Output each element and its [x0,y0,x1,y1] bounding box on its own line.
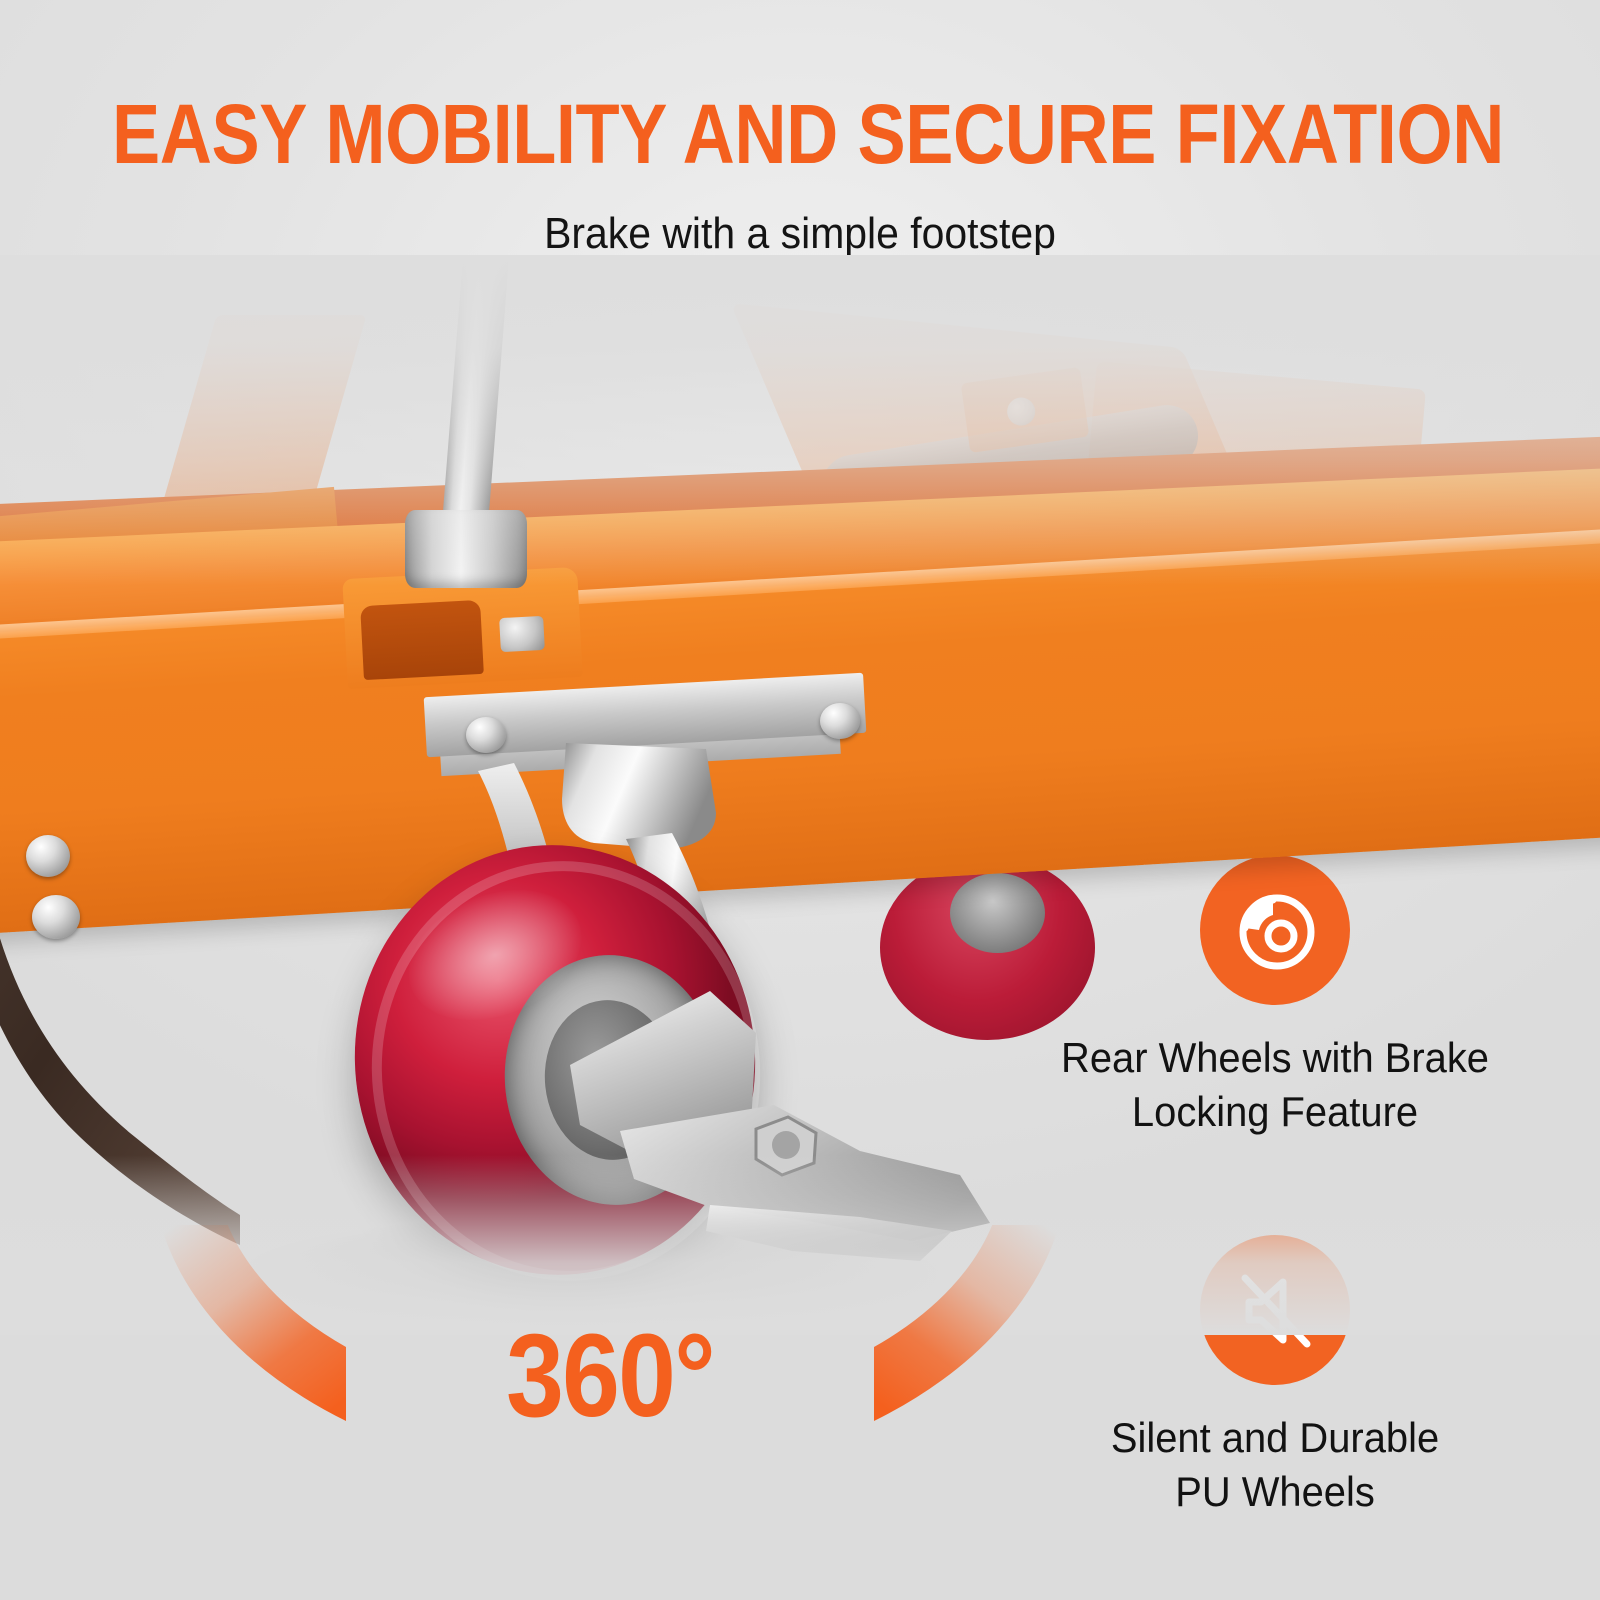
feature-silent-pu-wheels: Silent and Durable PU Wheels [1040,1235,1510,1519]
feature-caption-1-line2: Locking Feature [1052,1085,1499,1139]
feature-caption-1: Rear Wheels with Brake Locking Feature [1052,1031,1499,1139]
feature-caption-1-line1: Rear Wheels with Brake [1052,1031,1499,1085]
pump-rod-collar [405,510,527,588]
frame-notch-opening [360,600,484,680]
rotation-badge: 360° [150,1225,1070,1525]
feature-rear-wheel-brake: Rear Wheels with Brake Locking Feature [1040,855,1510,1139]
product-feature-graphic: EASY MOBILITY AND SECURE FIXATION Brake … [0,0,1600,1600]
pedal-bolt-upper [26,835,70,877]
brake-disc-icon [1200,855,1350,1005]
caster-bolt-right [820,703,860,739]
foot-pedal-bar [0,815,240,1245]
feature-caption-2: Silent and Durable PU Wheels [1052,1411,1499,1519]
page-subtitle: Brake with a simple footstep [56,212,1544,256]
pedal-bolt-lower [32,895,80,939]
notch-bolt [499,616,545,652]
feature-caption-2-line1: Silent and Durable [1052,1411,1499,1465]
mute-speaker-icon [1200,1235,1350,1385]
page-title: EASY MOBILITY AND SECURE FIXATION [112,92,1488,176]
product-photo [0,255,1600,1335]
rear-wheel-hub [950,873,1045,953]
feature-caption-2-line2: PU Wheels [1052,1465,1499,1519]
rotation-badge-label: 360° [205,1317,1015,1435]
